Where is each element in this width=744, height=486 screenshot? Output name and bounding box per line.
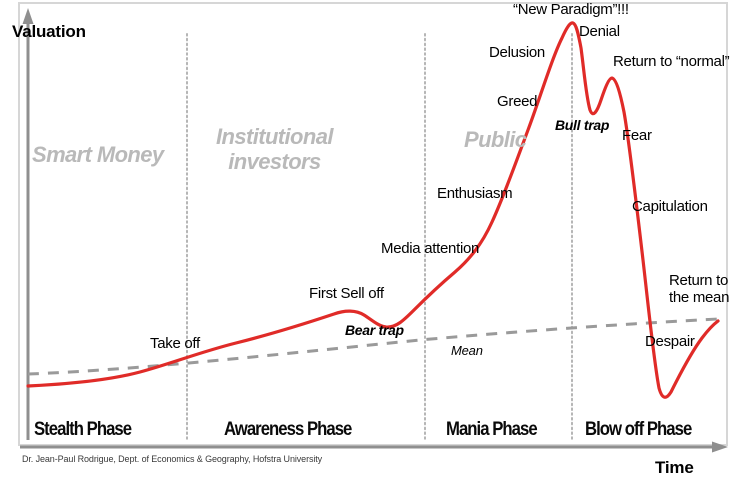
bubble-stages-chart: Valuation Time Smart Money Institutional… bbox=[0, 0, 744, 486]
stage-label-enthusiasm: Enthusiasm bbox=[437, 186, 512, 203]
stage-label-delusion: Delusion bbox=[489, 45, 545, 62]
stage-label-return-to-the-mean-line2: the mean bbox=[669, 289, 729, 306]
chart-canvas bbox=[0, 0, 744, 486]
stage-label-bear-trap: Bear trap bbox=[345, 323, 404, 339]
phase-label-blow-off: Blow off Phase bbox=[585, 419, 691, 440]
stage-label-despair: Despair bbox=[645, 334, 695, 351]
stage-label-bull-trap: Bull trap bbox=[555, 118, 609, 134]
actor-group-smart-money: Smart Money bbox=[32, 143, 164, 168]
phase-label-mania: Mania Phase bbox=[446, 419, 537, 440]
stage-label-return-to-normal: Return to “normal” bbox=[613, 54, 729, 71]
phase-label-stealth: Stealth Phase bbox=[34, 419, 131, 440]
stage-label-first-sell-off: First Sell off bbox=[309, 286, 384, 303]
stage-label-return-to-the-mean: Return to the mean bbox=[669, 272, 729, 307]
actor-group-public: Public bbox=[464, 128, 526, 153]
stage-label-return-to-the-mean-line1: Return to bbox=[669, 272, 729, 289]
attribution-credit: Dr. Jean-Paul Rodrigue, Dept. of Economi… bbox=[22, 454, 322, 464]
stage-label-denial: Denial bbox=[579, 24, 620, 41]
actor-group-institutional-investors: Institutional investors bbox=[216, 124, 333, 175]
actor-group-institutional-line1: Institutional bbox=[216, 124, 333, 149]
y-axis-title: Valuation bbox=[12, 22, 86, 41]
stage-label-media-attention: Media attention bbox=[381, 241, 479, 258]
stage-label-take-off: Take off bbox=[150, 336, 200, 353]
phase-label-awareness: Awareness Phase bbox=[224, 419, 351, 440]
actor-group-institutional-line2: investors bbox=[216, 149, 333, 174]
mean-line-label: Mean bbox=[451, 344, 483, 359]
stage-label-capitulation: Capitulation bbox=[632, 199, 708, 216]
x-axis bbox=[20, 442, 728, 453]
x-axis-title: Time bbox=[655, 458, 694, 477]
stage-label-greed: Greed bbox=[497, 94, 537, 111]
stage-label-fear: Fear bbox=[622, 128, 652, 145]
bubble-valuation-curve bbox=[28, 23, 718, 397]
stage-label-new-paradigm: “New Paradigm”!!! bbox=[513, 2, 629, 19]
